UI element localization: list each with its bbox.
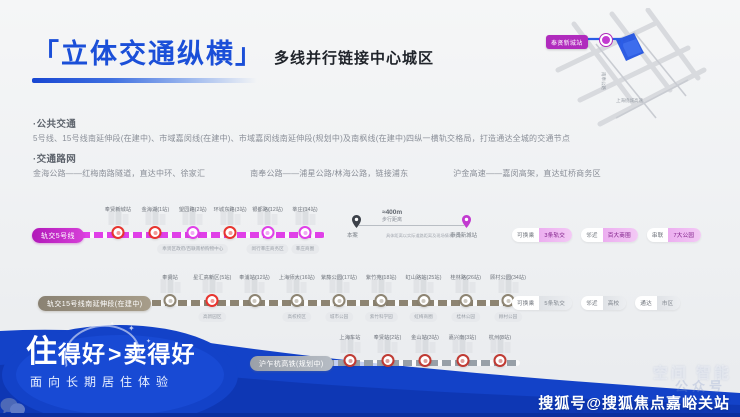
- road-network-text: 金海公路——红梅南路隧道，直达中环、徐家汇 南奉公路——浦星公路/林海公路，链接…: [33, 168, 733, 179]
- info-pill-key: 可换乘: [512, 296, 539, 310]
- banner-subtitle: 面向长期居住体验: [30, 373, 174, 390]
- line-info-pills-metro5: 可换乘3条轨交邻近百大商圈串联7大公园: [512, 228, 701, 242]
- slide-page: 「立体交通纵横」 多线并行链接中心城区 ·公共交通 5号线、15号线南延伸段(在…: [0, 0, 740, 417]
- station-name: 奉贤站: [162, 274, 178, 281]
- station-name: 星汇高新区(5站): [193, 274, 231, 281]
- road-item-2: 南奉公路——浦星公路/林海公路，链接浦东: [250, 169, 408, 178]
- station-name: 环城东路(3站): [214, 206, 247, 213]
- station-dot-icon[interactable]: [261, 226, 274, 239]
- title-row: 「立体交通纵横」 多线并行链接中心城区: [32, 40, 502, 70]
- station-dot-icon[interactable]: [299, 226, 312, 239]
- station-marker[interactable]: 金山站(3站): [419, 354, 432, 367]
- station-tag: 奉贤区政府/百联南桥购物中心: [157, 244, 228, 254]
- walk-right-label: 奉贤新城站: [450, 231, 477, 239]
- station-dot-icon[interactable]: [149, 226, 162, 239]
- station-marker[interactable]: 杭州(8站): [494, 354, 507, 367]
- station-name: 莘庄(14站): [292, 206, 318, 213]
- line-label-metro15[interactable]: 轨交15号线南延伸段(在建中): [38, 296, 151, 311]
- station-dot-icon[interactable]: [290, 294, 303, 307]
- info-pill-value: 高校: [603, 296, 627, 310]
- station-marker[interactable]: 银都路(12站)闵行莘庄商务区: [261, 226, 274, 239]
- walk-distance-number: ≈400m: [382, 209, 402, 216]
- walk-distance-callout: ≈400m 步行距离 具体距离以实际道路距离及现场情况为准 本案 奉贤新城站: [350, 200, 510, 240]
- station-dot-icon[interactable]: [344, 354, 357, 367]
- svg-text:南奉公路: 南奉公路: [600, 72, 607, 90]
- station-dot-icon[interactable]: [186, 226, 199, 239]
- walk-connector-line: [359, 225, 465, 226]
- road-network-heading: ·交通路网: [33, 151, 733, 165]
- station-marker[interactable]: 虹山路站(25站)虹梅商圈: [417, 294, 430, 307]
- station-dot-icon[interactable]: [381, 354, 394, 367]
- station-name: 嘉兴南(3站): [449, 334, 477, 341]
- station-dot-icon[interactable]: [456, 354, 469, 367]
- station-dot-icon[interactable]: [459, 294, 472, 307]
- station-dot-icon[interactable]: [164, 294, 177, 307]
- station-tag: 顾村公园: [494, 312, 522, 322]
- station-marker[interactable]: 奉浦站(12站): [248, 294, 261, 307]
- station-name: 上海师大(16站): [279, 274, 315, 281]
- station-name: 上海车站: [339, 334, 360, 341]
- bottom-banner: ✦ ✦ ✦ 住 得好 > 卖得好 面向长期居住体验 空间 智能 公众号 搜狐号@…: [0, 317, 740, 417]
- station-marker[interactable]: 奉贤新城站: [112, 226, 125, 239]
- station-dot-icon[interactable]: [375, 294, 388, 307]
- station-tag: 城市公园: [325, 312, 353, 322]
- line-track-metro5: [42, 232, 325, 238]
- station-tag: 虹梅商圈: [409, 312, 437, 322]
- svg-text:上海绕城高速: 上海绕城高速: [616, 97, 643, 104]
- station-name: 紫竹苑(18站): [366, 274, 397, 281]
- station-name: 桂林路(26站): [450, 274, 481, 281]
- source-watermark: 搜狐号@搜狐焦点嘉峪关站: [538, 392, 730, 413]
- info-pill-value: 3条轨交: [539, 228, 572, 242]
- info-pill-key: 邻近: [581, 228, 603, 242]
- station-marker[interactable]: 嘉兴南(3站): [456, 354, 469, 367]
- station-marker[interactable]: 紫竹苑(18站)紫竹科学园: [375, 294, 388, 307]
- walk-distance-caption: 步行距离: [382, 216, 402, 223]
- station-name: 金山站(3站): [411, 334, 439, 341]
- station-dot-icon[interactable]: [494, 354, 507, 367]
- banner-word-3: 卖得好: [123, 335, 195, 369]
- footer-strip: [0, 413, 740, 417]
- station-name: 杭州(8站): [489, 334, 512, 341]
- station-name: 奉贤新城站: [105, 206, 131, 213]
- station-marker[interactable]: 桂林路(26站)桂林公园: [459, 294, 472, 307]
- station-dot-icon[interactable]: [224, 226, 237, 239]
- line-label-hsr[interactable]: 沪乍杭高铁(规划中): [250, 356, 333, 371]
- station-dot-icon[interactable]: [333, 294, 346, 307]
- station-marker[interactable]: 上海车站: [344, 354, 357, 367]
- info-pill-value: 7大公园: [668, 228, 701, 242]
- banner-word-1: 住: [26, 326, 58, 371]
- mini-map[interactable]: 南奉公路 上海绕城高速 奉贤新城站: [538, 8, 724, 136]
- page-title: 「立体交通纵横」: [32, 40, 264, 70]
- station-name: 银都路(12站): [252, 206, 283, 213]
- info-pill-value: 百大商圈: [603, 228, 638, 242]
- station-marker[interactable]: 星汇高新区(5站)高新园区: [206, 294, 219, 307]
- station-marker[interactable]: 上海师大(16站)高校校区: [290, 294, 303, 307]
- station-tag: 莘庄商圈: [291, 244, 319, 254]
- info-pill[interactable]: 串联7大公园: [647, 228, 701, 242]
- page-subtitle: 多线并行链接中心城区: [274, 47, 434, 70]
- banner-headline: 住 得好 > 卖得好: [26, 326, 195, 371]
- station-marker[interactable]: 金海湖(1站): [149, 226, 162, 239]
- station-marker[interactable]: 紫藤公园(17站)城市公园: [333, 294, 346, 307]
- road-item-1: 金海公路——红梅南路隧道，直达中环、徐家汇: [33, 169, 205, 178]
- map-station-marker[interactable]: [600, 34, 612, 46]
- info-pill-key: 可换乘: [512, 228, 539, 242]
- station-dot-icon[interactable]: [248, 294, 261, 307]
- project-pin-icon: [352, 215, 361, 228]
- info-pill-key: 邻近: [581, 296, 603, 310]
- station-name: 金海湖(1站): [141, 206, 169, 213]
- station-tag: 紫竹科学园: [365, 312, 398, 322]
- station-name: 虹山路站(25站): [405, 274, 441, 281]
- accent-divider: [32, 78, 257, 83]
- map-station-label: 奉贤新城站: [546, 35, 588, 49]
- station-pin-icon: [462, 215, 471, 228]
- station-name: 奉贤站(2站): [374, 334, 402, 341]
- station-name: 紫藤公园(17站): [321, 274, 357, 281]
- banner-arrow: >: [108, 341, 121, 368]
- walk-left-label: 本案: [347, 231, 358, 239]
- page-header: 「立体交通纵横」 多线并行链接中心城区: [32, 40, 502, 83]
- station-marker[interactable]: 望园路(2站)奉贤区政府/百联南桥购物中心: [186, 226, 199, 239]
- walk-distance-value: ≈400m 步行距离: [382, 209, 402, 223]
- line-label-metro5[interactable]: 轨交5号线: [32, 228, 84, 243]
- info-pill[interactable]: 可换乘5条轨交: [512, 296, 572, 310]
- station-tag: 闵行莘庄商务区: [247, 244, 289, 254]
- info-pill[interactable]: 通达市区: [635, 296, 680, 310]
- station-dot-icon[interactable]: [206, 294, 219, 307]
- mini-map-graphic: 南奉公路 上海绕城高速: [538, 8, 724, 136]
- info-pill-value: 市区: [657, 296, 681, 310]
- station-tag: 高新园区: [198, 312, 226, 322]
- station-name: 望园路(2站): [179, 206, 207, 213]
- station-tag: 桂林公园: [452, 312, 480, 322]
- station-marker[interactable]: 环城东路(3站): [224, 226, 237, 239]
- station-name: 奉浦站(12站): [239, 274, 270, 281]
- info-pill[interactable]: 邻近高校: [581, 296, 626, 310]
- info-pill-key: 通达: [635, 296, 657, 310]
- station-name: 顾村公园(34站): [490, 274, 526, 281]
- station-dot-icon[interactable]: [112, 226, 125, 239]
- station-tag: 高校校区: [283, 312, 311, 322]
- station-marker[interactable]: 奉贤站: [164, 294, 177, 307]
- station-dot-icon[interactable]: [417, 294, 430, 307]
- info-pill-value: 5条轨交: [539, 296, 572, 310]
- info-pill[interactable]: 邻近百大商圈: [581, 228, 638, 242]
- banner-word-2: 得好: [58, 335, 106, 369]
- info-pill-key: 串联: [647, 228, 669, 242]
- station-marker[interactable]: 莘庄(14站)莘庄商圈: [299, 226, 312, 239]
- info-pill[interactable]: 可换乘3条轨交: [512, 228, 572, 242]
- road-item-3: 沪金高速——嘉闵高架，直达虹桥商务区: [453, 169, 601, 178]
- station-dot-icon[interactable]: [419, 354, 432, 367]
- line-info-pills-metro15: 可换乘5条轨交邻近高校通达市区: [512, 296, 680, 310]
- station-marker[interactable]: 奉贤站(2站): [381, 354, 394, 367]
